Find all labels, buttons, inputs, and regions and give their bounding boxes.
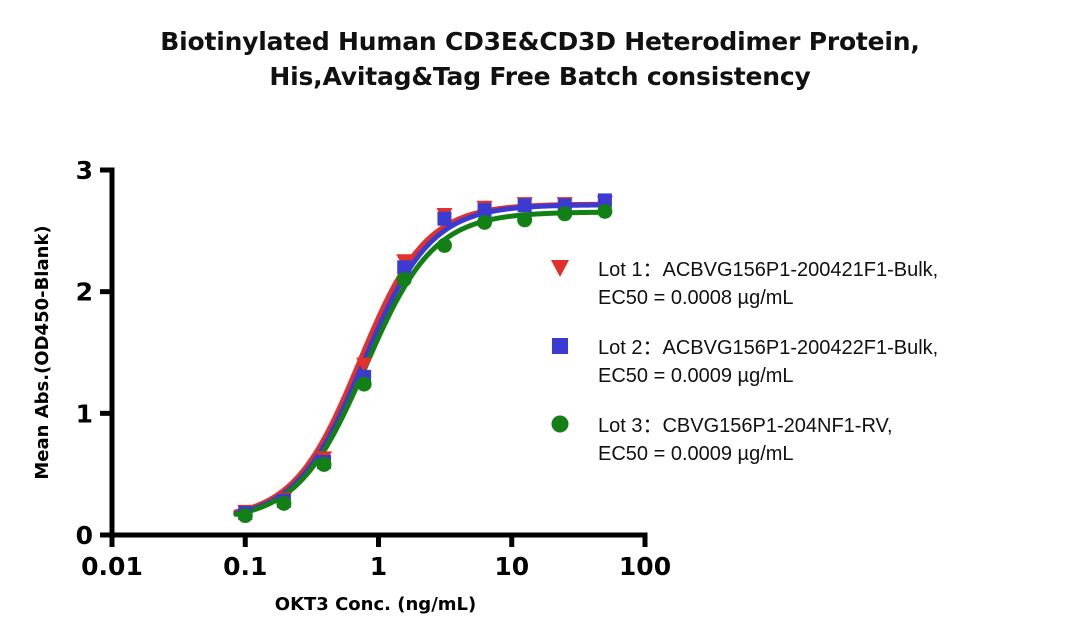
fit-curve-lot-2 bbox=[236, 205, 607, 514]
y-tick-label-0: 0 bbox=[76, 521, 93, 550]
legend-label-2-line-1: Lot 2：ACBVG156P1-200422F1-Bulk, bbox=[598, 337, 938, 359]
chart-plot-area: 0.010.11101000123OKT3 Conc. (ng/mL)Mean … bbox=[0, 0, 1080, 633]
data-point bbox=[518, 198, 532, 212]
data-point bbox=[517, 212, 532, 227]
legend-label-3-line-1: Lot 3：CBVG156P1-204NF1-RV, bbox=[598, 415, 893, 437]
x-axis-title: OKT3 Conc. (ng/mL) bbox=[275, 594, 476, 615]
data-point bbox=[397, 272, 412, 287]
data-point bbox=[437, 212, 451, 226]
x-tick-label-3: 10 bbox=[494, 552, 529, 581]
data-point bbox=[357, 377, 372, 392]
data-point bbox=[597, 204, 612, 219]
data-point bbox=[477, 215, 492, 230]
y-axis-title: Mean Abs.(OD450-Blank) bbox=[32, 225, 53, 479]
legend-label-1-line-2: EC50 = 0.0008 µg/mL bbox=[598, 287, 794, 309]
x-tick-label-2: 1 bbox=[370, 552, 387, 581]
data-point bbox=[238, 508, 253, 523]
data-point bbox=[317, 457, 332, 472]
data-point bbox=[276, 496, 291, 511]
x-tick-label-1: 0.1 bbox=[223, 552, 267, 581]
x-tick-label-4: 100 bbox=[619, 552, 671, 581]
y-tick-label-3: 3 bbox=[76, 156, 93, 185]
fit-curve-lot-3 bbox=[236, 212, 607, 514]
data-point bbox=[557, 206, 572, 221]
chart-figure: Biotinylated Human CD3E&CD3D Heterodimer… bbox=[0, 0, 1080, 633]
data-point bbox=[437, 238, 452, 253]
legend-label-3-line-2: EC50 = 0.0009 µg/mL bbox=[598, 443, 794, 465]
legend-label-1-line-1: Lot 1：ACBVG156P1-200421F1-Bulk, bbox=[598, 259, 938, 281]
y-tick-label-1: 1 bbox=[76, 399, 93, 428]
legend-circle-marker bbox=[552, 416, 569, 433]
y-tick-label-2: 2 bbox=[76, 278, 93, 307]
legend-square-marker bbox=[552, 338, 568, 354]
legend-label-2-line-2: EC50 = 0.0009 µg/mL bbox=[598, 365, 794, 387]
x-tick-label-0: 0.01 bbox=[81, 552, 143, 581]
legend-triangle-down-marker bbox=[551, 260, 569, 277]
